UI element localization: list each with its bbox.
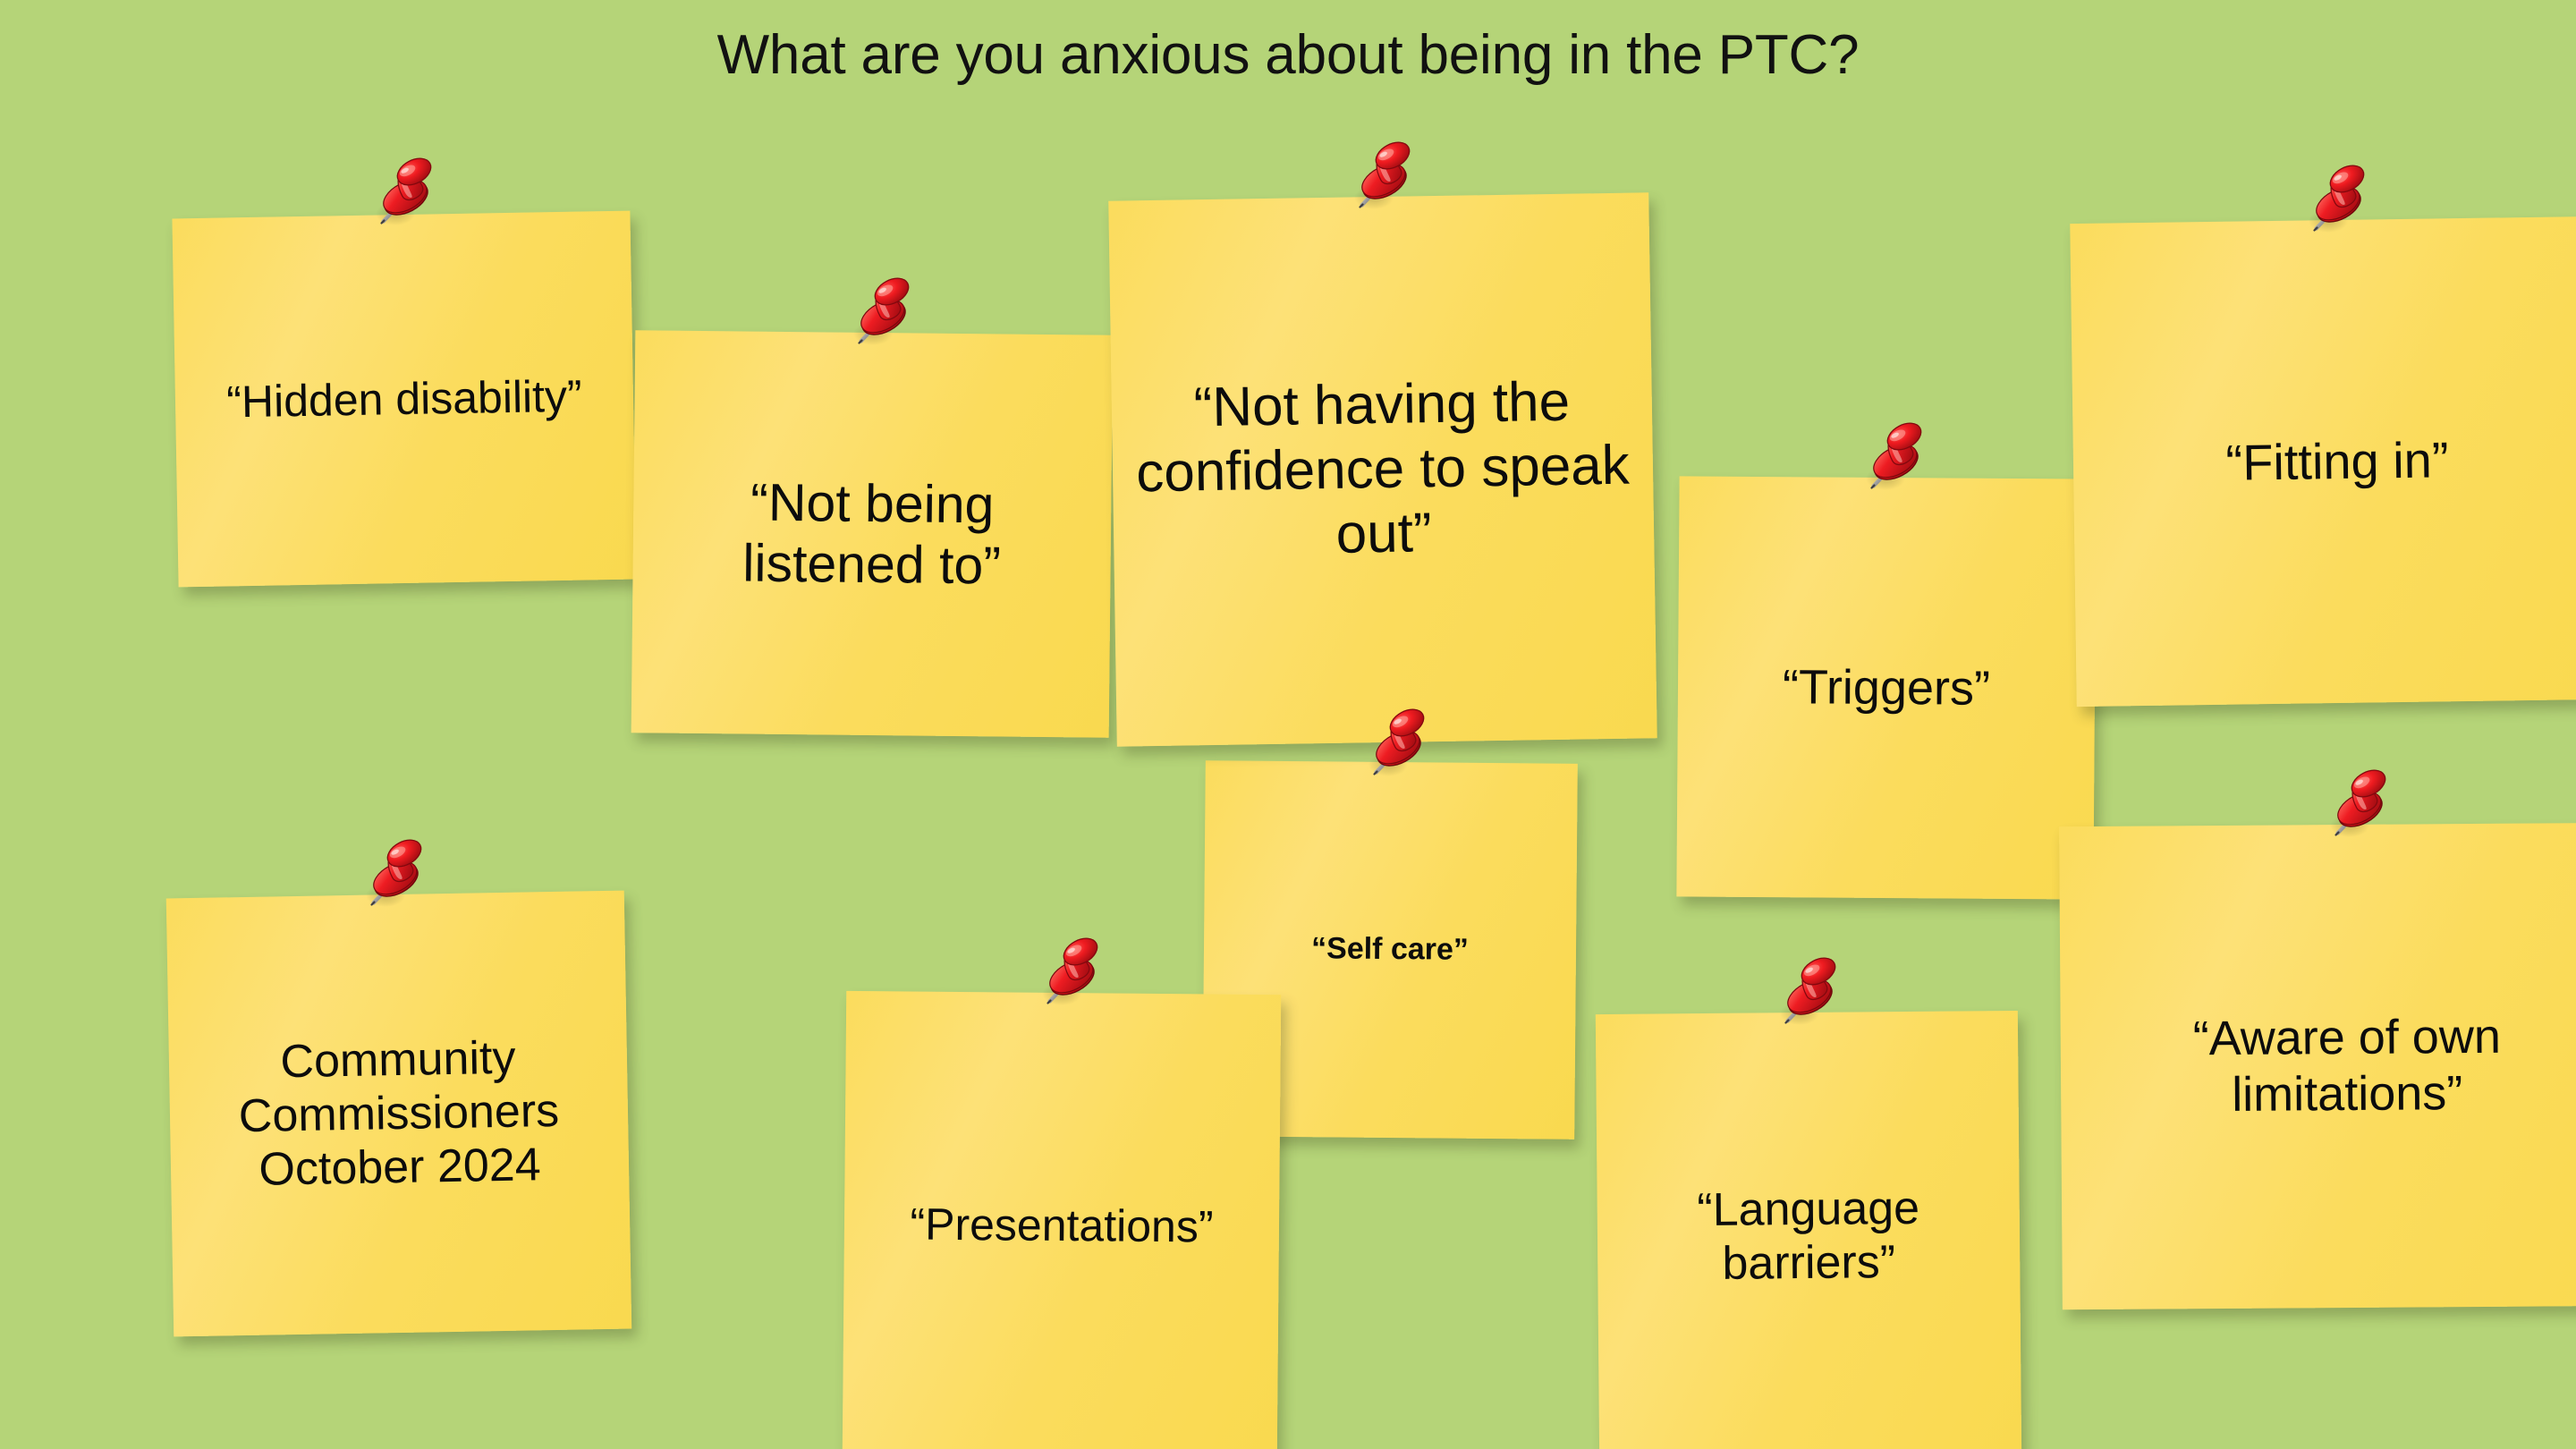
sticky-note-text: “Hidden disability” [199,369,611,428]
sticky-note-text: “Triggers” [1701,658,2072,717]
sticky-note-text: “Not being listened to” [656,470,1088,597]
sticky-note-text: “Not having the confidence to speak out” [1134,369,1631,570]
sticky-note-text: “Language barriers” [1620,1181,1996,1292]
sticky-note-board: What are you anxious about being in the … [0,0,2576,1449]
sticky-note-text: Community Commissioners October 2024 [191,1030,606,1199]
sticky-note-text: “Fitting in” [2097,429,2576,494]
sticky-note-hidden-disability[interactable]: “Hidden disability” [172,211,636,588]
sticky-note-presentations[interactable]: “Presentations” [843,991,1282,1449]
sticky-note-fitting-in[interactable]: “Fitting in” [2070,216,2576,707]
sticky-note-aware-of-own-limitations[interactable]: “Aware of own limitations” [2059,823,2576,1309]
sticky-note-not-having-confidence[interactable]: “Not having the confidence to speak out” [1108,192,1657,746]
sticky-note-triggers[interactable]: “Triggers” [1676,476,2096,899]
sticky-note-community-commissioners[interactable]: Community Commissioners October 2024 [166,891,631,1337]
sticky-note-text: “Presentations” [868,1198,1256,1253]
sticky-note-not-being-listened-to[interactable]: “Not being listened to” [631,330,1114,738]
page-title: What are you anxious about being in the … [0,25,2576,86]
sticky-note-language-barriers[interactable]: “Language barriers” [1596,1011,2021,1449]
sticky-note-text: “Aware of own limitations” [2084,1008,2576,1123]
sticky-note-text: “Self care” [1227,931,1553,970]
